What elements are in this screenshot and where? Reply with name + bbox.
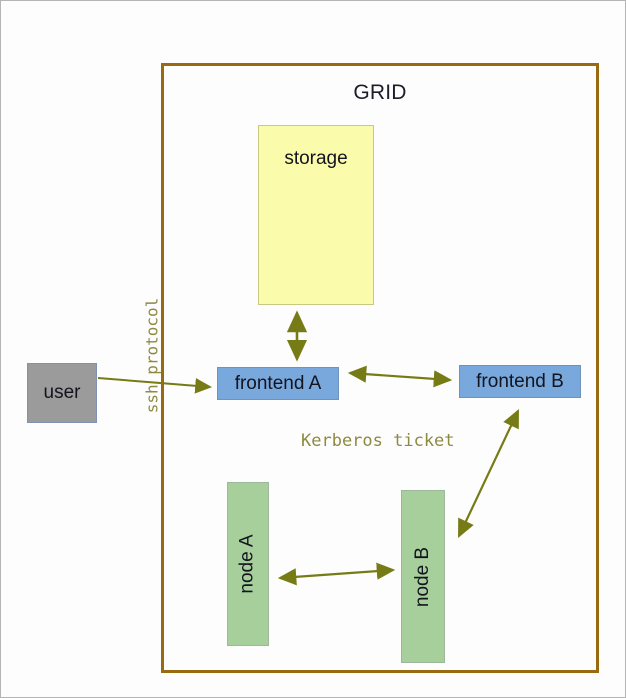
node-frontend-b-label: frontend B	[476, 371, 564, 393]
node-node-a[interactable]: node A	[227, 482, 269, 646]
node-user[interactable]: user	[27, 363, 97, 423]
node-frontend-a-label: frontend A	[235, 373, 322, 395]
node-node-b[interactable]: node B	[401, 490, 445, 663]
grid-title: GRID	[161, 81, 599, 105]
edge-label-ssh-protocol: ssh protocol	[142, 298, 161, 414]
edge-label-kerberos-ticket: Kerberos ticket	[301, 431, 455, 451]
node-frontend-a[interactable]: frontend A	[217, 367, 339, 400]
diagram-canvas: GRID use	[0, 0, 626, 698]
node-node-b-label: node B	[412, 546, 434, 606]
node-frontend-b[interactable]: frontend B	[459, 365, 581, 398]
node-node-a-label: node A	[237, 534, 259, 593]
node-user-label: user	[44, 382, 81, 404]
node-storage-label: storage	[284, 148, 347, 170]
node-storage[interactable]: storage	[258, 125, 374, 305]
